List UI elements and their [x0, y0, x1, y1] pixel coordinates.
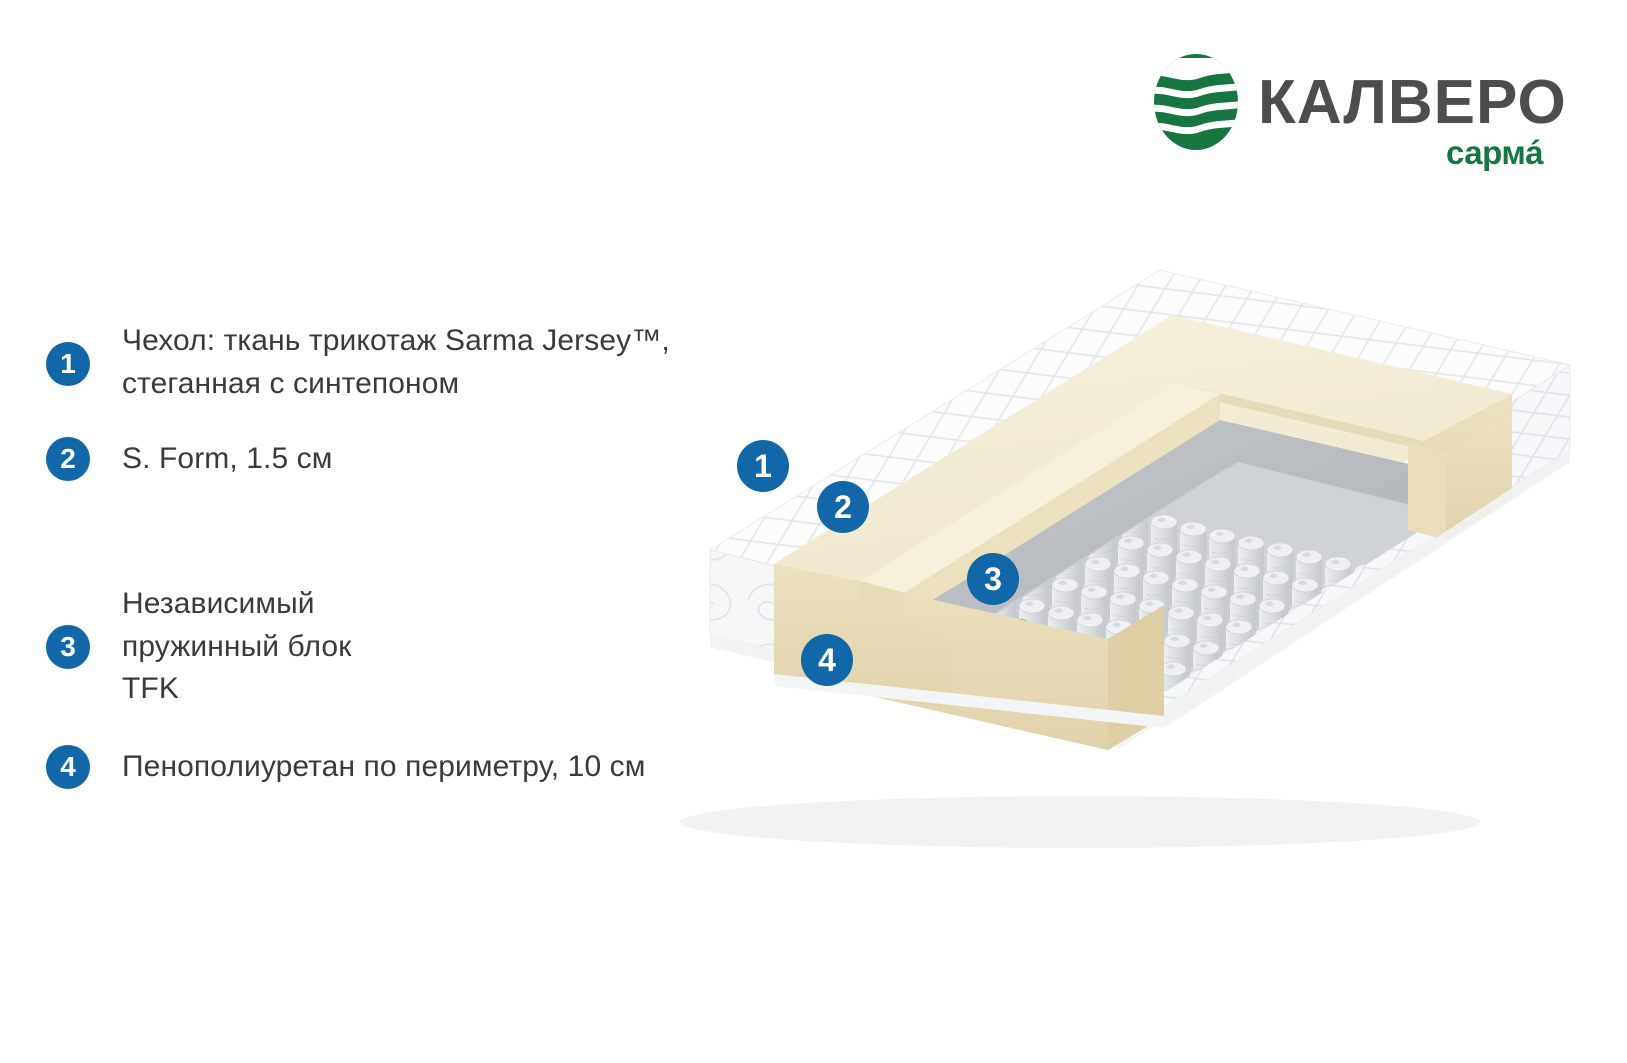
legend-label-2: S. Form, 1.5 см [122, 438, 333, 481]
legend-label-3: Независимый пружинный блок TFK [122, 583, 351, 711]
legend-badge-2: 2 [46, 437, 90, 481]
legend-item-3: 3 Независимый пружинный блок TFK [46, 583, 351, 711]
brand-name: КАЛВЕРО [1258, 72, 1567, 134]
diagram-callout-1: 1 [737, 440, 789, 492]
diagram-callout-4: 4 [801, 634, 853, 686]
diagram-callout-2: 2 [817, 481, 869, 533]
diagram-callout-3: 3 [967, 553, 1019, 605]
legend-item-2: 2 S. Form, 1.5 см [46, 437, 333, 481]
legend-badge-1: 1 [46, 342, 90, 386]
mattress-cutaway-image: 1 2 3 4 [560, 150, 1600, 870]
legend-badge-3: 3 [46, 625, 90, 669]
legend-badge-4: 4 [46, 745, 90, 789]
legend-item-4: 4 Пенополиуретан по периметру, 10 см [46, 745, 646, 789]
globe-waves-icon [1148, 52, 1244, 152]
